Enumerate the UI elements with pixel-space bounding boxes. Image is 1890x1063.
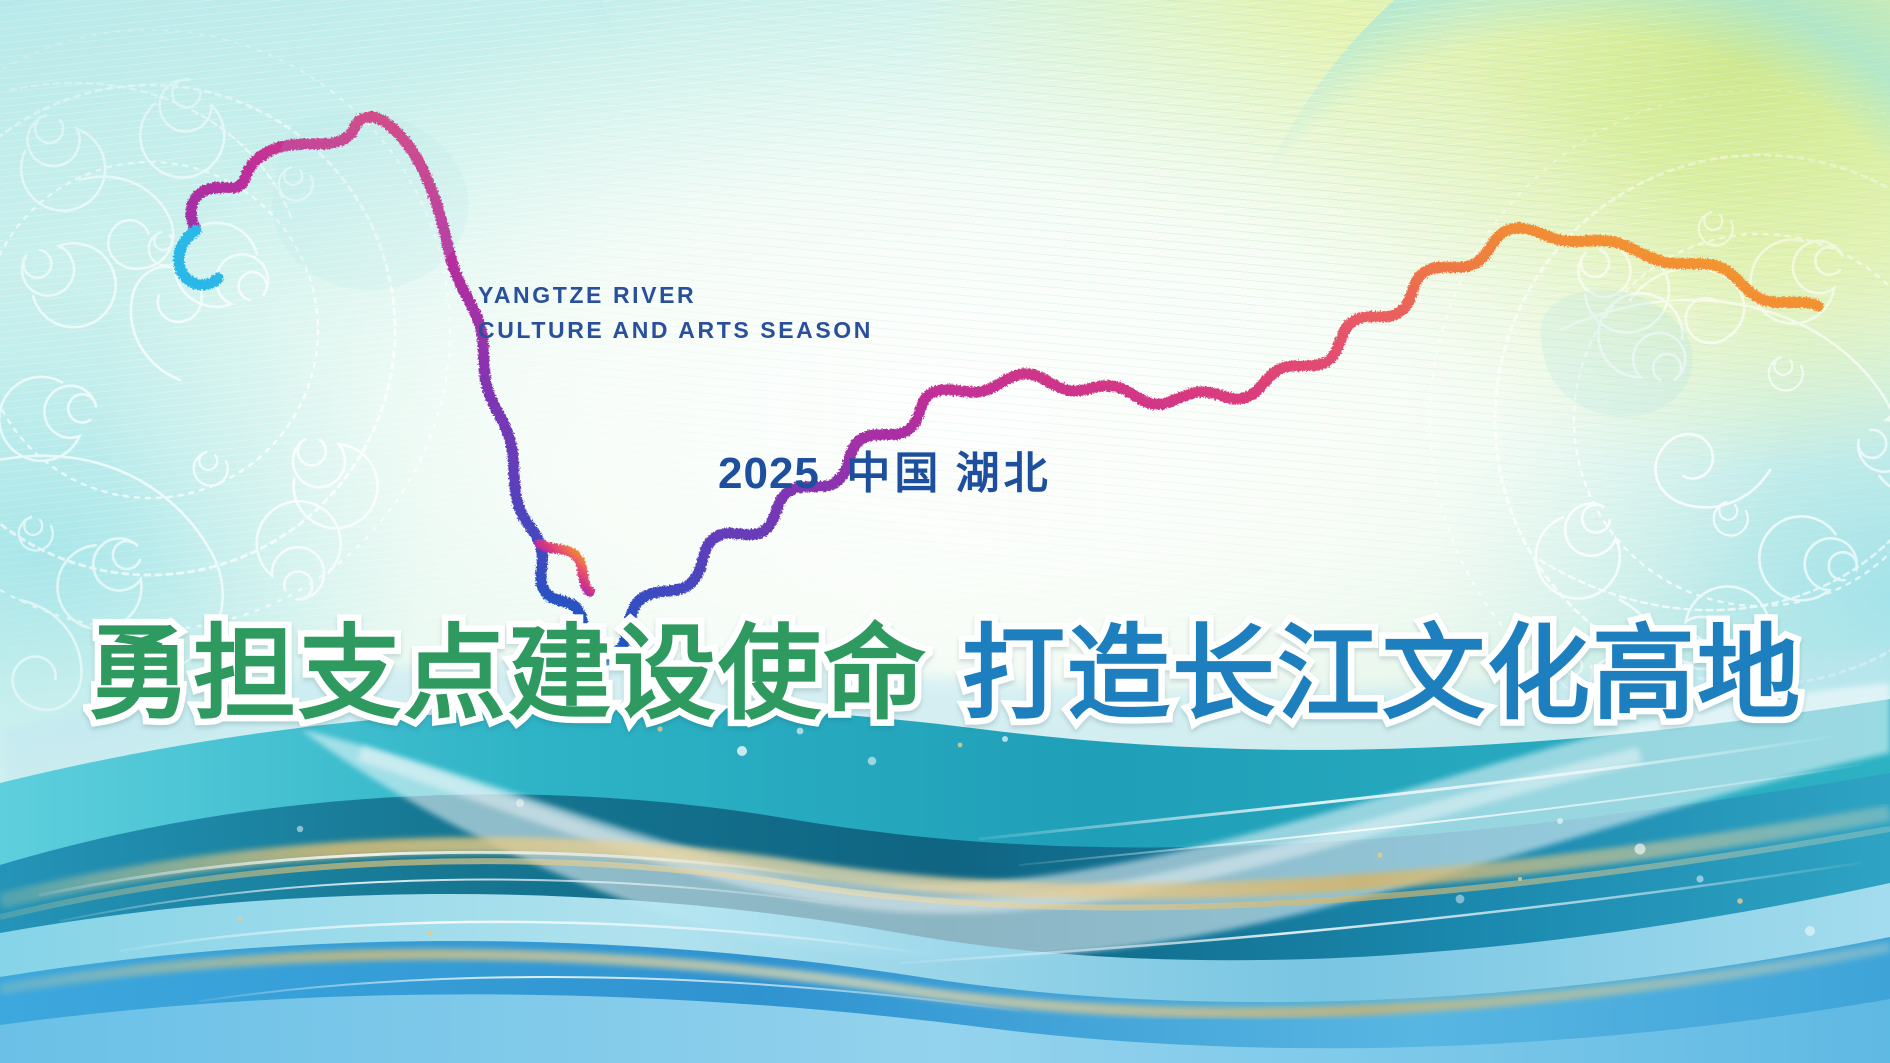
calligraphy-char-3: 文 bbox=[718, 94, 844, 237]
slogan-spacer bbox=[928, 614, 962, 734]
calligraphy-char-5: 艺 bbox=[965, 67, 1094, 220]
edition-province: 湖北 bbox=[956, 449, 1052, 498]
poster-canvas: 长江文化艺术季 YANGTZE RIVER CULTURE AND ARTS S… bbox=[0, 0, 1890, 1063]
subtitle-line-2: CULTURE AND ARTS SEASON bbox=[478, 313, 873, 348]
calligraphy-char-1: 长 bbox=[469, 80, 593, 233]
slogan-part-2: 打造长江文化高地 bbox=[962, 590, 1802, 739]
edition-country: 中国 bbox=[846, 449, 942, 498]
calligraphy-char-6: 术 bbox=[1086, 88, 1204, 233]
edition-year: 2025 bbox=[718, 449, 820, 498]
subtitle-line-1: YANGTZE RIVER bbox=[478, 278, 873, 313]
calligraphy-char-7: 季 bbox=[1203, 81, 1327, 227]
calligraphy-text: 长江文化艺术季 bbox=[470, 95, 1324, 217]
event-slogan: 勇担支点建设使命 打造长江文化高地 bbox=[0, 590, 1890, 739]
calligraphy-char-2: 江 bbox=[596, 104, 709, 236]
slogan-part-1: 勇担支点建设使命 bbox=[88, 590, 928, 739]
english-subtitle: YANGTZE RIVER CULTURE AND ARTS SEASON bbox=[478, 278, 873, 348]
calligraphy-char-4: 化 bbox=[841, 108, 957, 248]
edition-line: 2025 中国 湖北 bbox=[718, 437, 1052, 501]
